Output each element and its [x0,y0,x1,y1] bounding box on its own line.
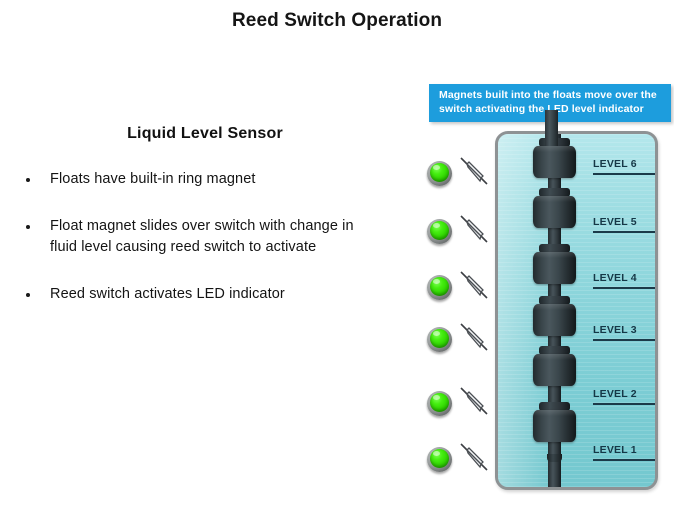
float-3 [533,304,576,336]
reed-switch-1 [456,439,492,475]
list-item: Reed switch activates LED indicator [0,284,400,305]
bullet-dot-icon [26,178,30,182]
led-level-2[interactable] [427,391,452,416]
float-2 [533,354,576,386]
led-lens-icon [430,393,449,412]
page-title: Reed Switch Operation [0,10,674,32]
reed-switch-6 [456,153,492,189]
list-item: Floats have built-in ring magnet [0,169,400,190]
list-item: Float magnet slides over switch with cha… [0,216,400,258]
reed-switch-4 [456,267,492,303]
led-level-6[interactable] [427,161,452,186]
led-lens-icon [430,277,449,296]
led-lens-icon [430,329,449,348]
reed-switch-3 [456,319,492,355]
reed-switch-2 [456,383,492,419]
led-lens-icon [430,163,449,182]
liquid-tank: LEVEL 6 LEVEL 5 LEVEL 4 LEVEL 3 LEVEL 2 … [495,131,658,490]
bullet-text: Floats have built-in ring magnet [50,169,256,190]
bullet-text: Reed switch activates LED indicator [50,284,285,305]
float-stem-assembly [498,134,658,490]
led-level-4[interactable] [427,275,452,300]
bullet-dot-icon [26,293,30,297]
led-lens-icon [430,449,449,468]
text-panel: Liquid Level Sensor Floats have built-in… [0,125,400,331]
reed-switch-5 [456,211,492,247]
sensor-stem-top [545,110,558,146]
bullet-dot-icon [26,225,30,229]
float-1 [533,410,576,442]
led-level-5[interactable] [427,219,452,244]
float-4 [533,252,576,284]
float-6 [533,146,576,178]
section-heading: Liquid Level Sensor [0,125,400,143]
led-level-1[interactable] [427,447,452,472]
led-level-3[interactable] [427,327,452,352]
bullet-text: Float magnet slides over switch with cha… [50,216,380,258]
float-5 [533,196,576,228]
stem-tip [547,454,562,462]
led-lens-icon [430,221,449,240]
